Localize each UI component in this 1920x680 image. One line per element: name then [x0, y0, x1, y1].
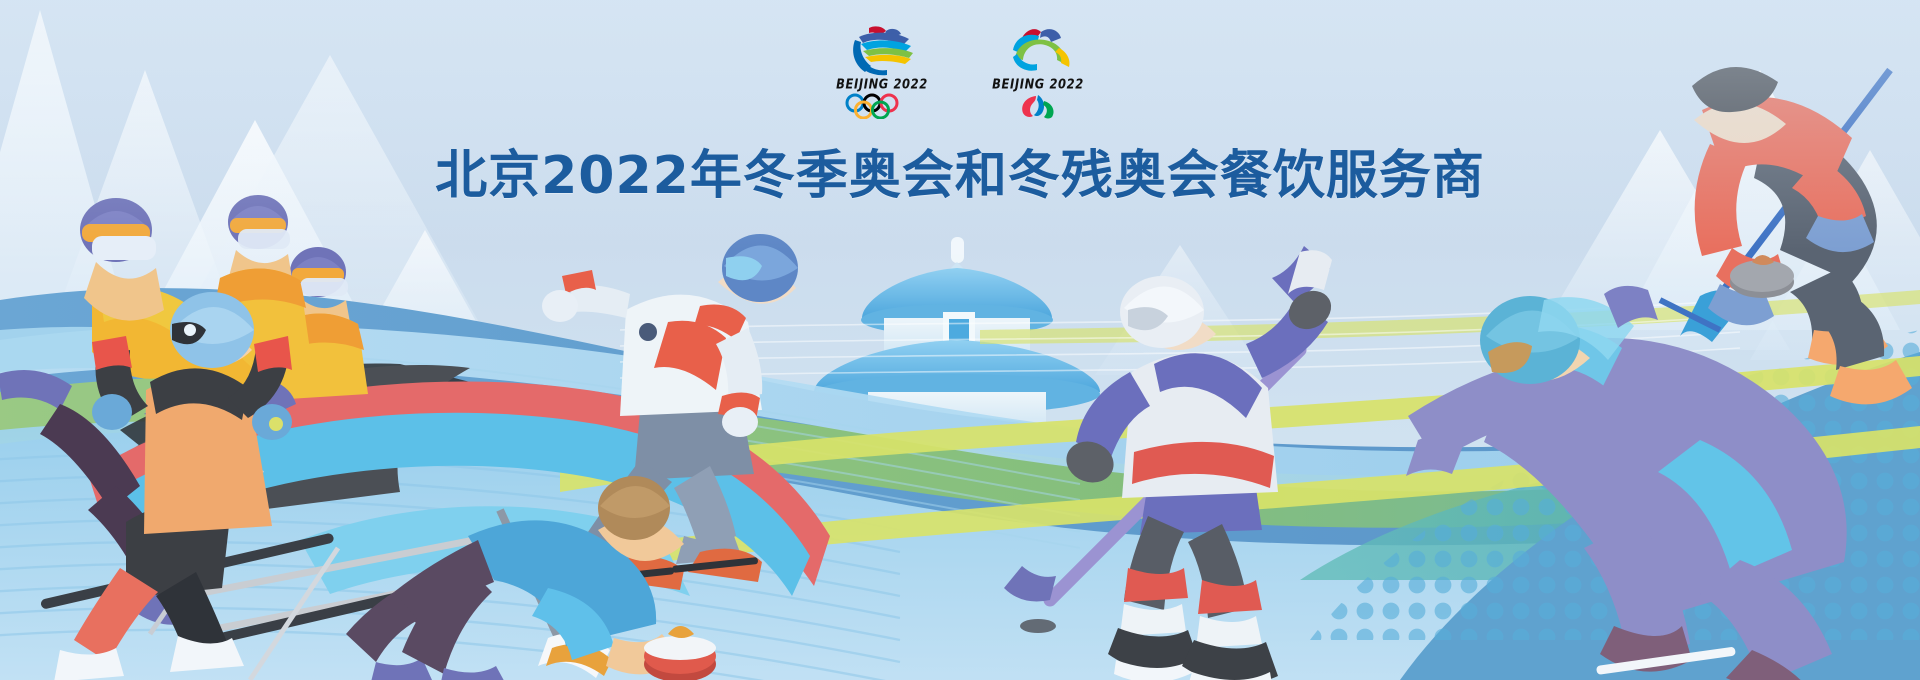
olympic-rings-icon	[838, 93, 926, 119]
emblem-olympic: BEIJING 2022	[830, 22, 934, 119]
emblem-row: BEIJING 2022	[0, 0, 1920, 119]
emblem-paralympic-wordmark: BEIJING 2022	[992, 76, 1084, 92]
beijing-2022-paralympic-mark-icon	[995, 22, 1081, 76]
emblem-olympic-wordmark: BEIJING 2022	[836, 76, 928, 92]
beijing-2022-banner: BEIJING 2022	[0, 0, 1920, 680]
emblem-paralympic: BEIJING 2022	[986, 22, 1090, 119]
beijing-2022-olympic-mark-icon	[839, 22, 925, 76]
banner-header: BEIJING 2022	[0, 0, 1920, 208]
page-title: 北京2022年冬季奥会和冬残奥会餐饮服务商	[0, 133, 1920, 208]
agitos-icon	[994, 93, 1082, 119]
